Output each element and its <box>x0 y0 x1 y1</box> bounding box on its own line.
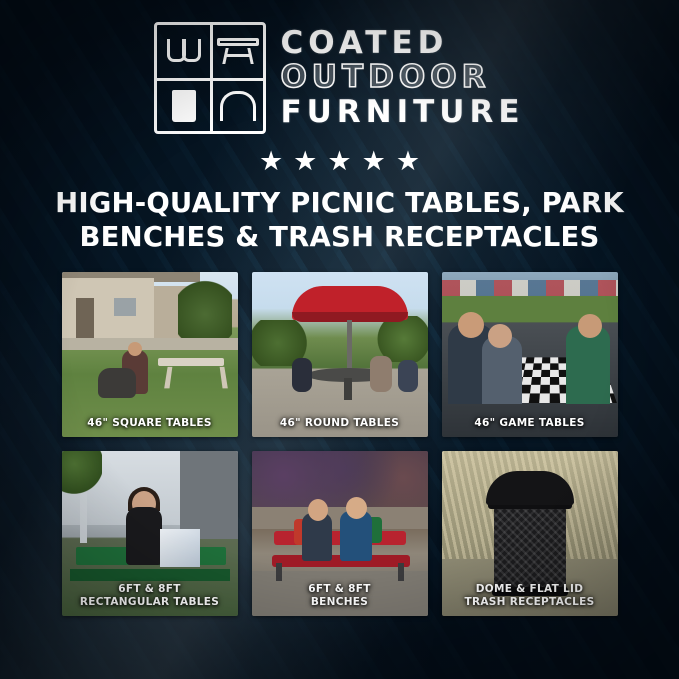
picnic-table-icon <box>217 38 259 66</box>
star-icon: ★ <box>293 148 317 175</box>
gallery-tile-game-tables[interactable]: 46" GAME TABLES <box>442 272 618 437</box>
tile-caption-line-1: 46" SQUARE TABLES <box>66 417 234 429</box>
photo-game-tables <box>442 272 618 437</box>
brand-logo: COATED OUTDOOR FURNITURE <box>0 0 679 134</box>
tile-caption: 46" SQUARE TABLES <box>62 417 238 429</box>
tile-caption-line-1: 6FT & 8FT <box>66 583 234 595</box>
tile-caption-line-1: DOME & FLAT LID <box>446 583 614 595</box>
brand-word-3: FURNITURE <box>280 97 524 129</box>
headline: HIGH-QUALITY PICNIC TABLES, PARK BENCHES… <box>40 187 640 254</box>
logo-panel-arch-bench <box>210 78 263 131</box>
star-icon: ★ <box>362 148 386 175</box>
tile-caption: 46" GAME TABLES <box>442 417 618 429</box>
brand-word-2: OUTDOOR <box>280 62 524 94</box>
gallery-tile-square-tables[interactable]: 46" SQUARE TABLES <box>62 272 238 437</box>
star-icon: ★ <box>259 148 283 175</box>
product-gallery: 46" SQUARE TABLES 46" ROUND TABLES <box>62 272 618 616</box>
trash-can-icon <box>172 90 196 122</box>
tile-caption: 6FT & 8FT RECTANGULAR TABLES <box>62 583 238 608</box>
tile-caption: DOME & FLAT LID TRASH RECEPTACLES <box>442 583 618 608</box>
logo-panel-picnic-table <box>210 25 263 78</box>
gallery-tile-benches[interactable]: 6FT & 8FT BENCHES <box>252 451 428 616</box>
gallery-tile-rectangular-tables[interactable]: 6FT & 8FT RECTANGULAR TABLES <box>62 451 238 616</box>
logo-panel-bench-top <box>157 25 210 78</box>
rating-stars: ★ ★ ★ ★ ★ <box>0 148 679 175</box>
product-poster: COATED OUTDOOR FURNITURE ★ ★ ★ ★ ★ HIGH-… <box>0 0 679 679</box>
tile-caption-line-1: 46" GAME TABLES <box>446 417 614 429</box>
logo-mark-icon <box>154 22 266 134</box>
photo-square-tables <box>62 272 238 437</box>
headline-line-1: HIGH-QUALITY PICNIC TABLES, PARK <box>40 187 640 221</box>
headline-line-2: BENCHES & TRASH RECEPTACLES <box>40 221 640 255</box>
tile-caption-line-2: RECTANGULAR TABLES <box>66 596 234 608</box>
star-icon: ★ <box>396 148 420 175</box>
tile-caption-line-2: TRASH RECEPTACLES <box>446 596 614 608</box>
brand-word-1: COATED <box>280 28 524 60</box>
tile-caption-line-2: BENCHES <box>256 596 424 608</box>
tile-caption-line-1: 6FT & 8FT <box>256 583 424 595</box>
logo-panel-trash-can <box>157 78 210 131</box>
brand-wordmark: COATED OUTDOOR FURNITURE <box>280 28 524 129</box>
gallery-tile-round-tables[interactable]: 46" ROUND TABLES <box>252 272 428 437</box>
bench-top-icon <box>167 37 201 67</box>
arch-bench-icon <box>220 91 256 121</box>
star-icon: ★ <box>327 148 351 175</box>
tile-caption: 46" ROUND TABLES <box>252 417 428 429</box>
gallery-tile-trash-receptacles[interactable]: DOME & FLAT LID TRASH RECEPTACLES <box>442 451 618 616</box>
tile-caption-line-1: 46" ROUND TABLES <box>256 417 424 429</box>
photo-round-tables <box>252 272 428 437</box>
tile-caption: 6FT & 8FT BENCHES <box>252 583 428 608</box>
